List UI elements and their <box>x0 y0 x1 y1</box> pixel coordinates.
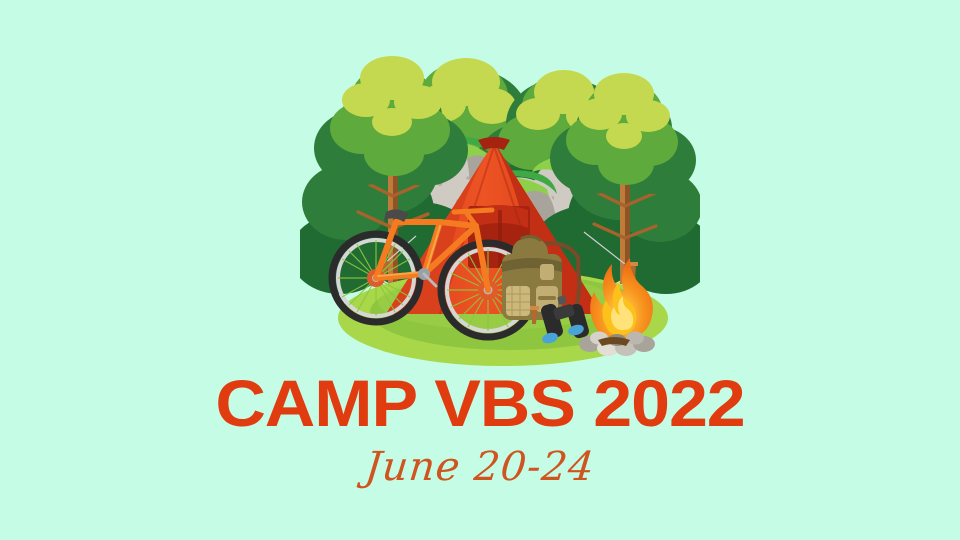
poster-canvas: CAMP VBS 2022 June 20-24 <box>0 0 960 540</box>
event-dates: June 20-24 <box>0 444 960 490</box>
page-title: CAMP VBS 2022 <box>0 368 960 438</box>
camping-scene-illustration <box>300 0 700 376</box>
title-block: CAMP VBS 2022 June 20-24 <box>0 368 960 490</box>
